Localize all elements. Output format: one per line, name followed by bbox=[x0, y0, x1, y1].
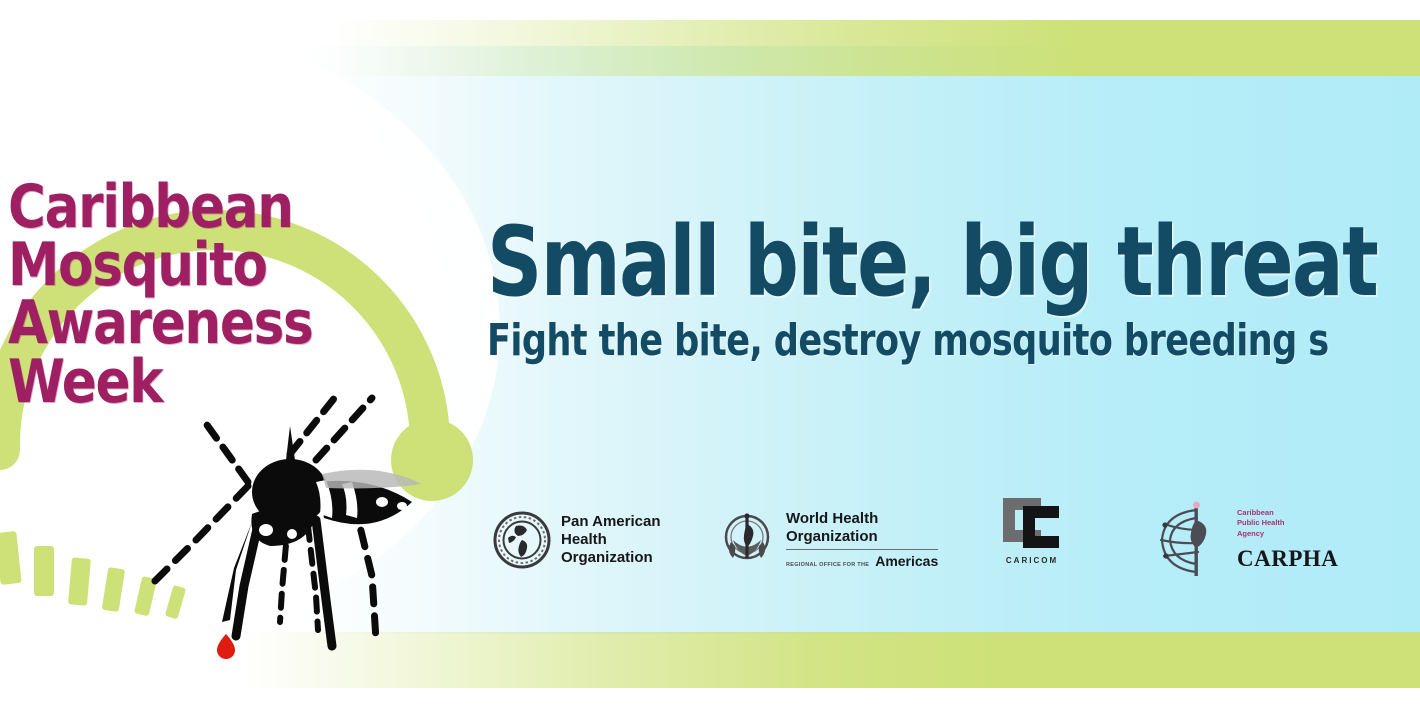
partner-logos: Pan American Health Organization World H… bbox=[492, 492, 1322, 588]
message-block: Small bite, big threat Fight the bite, d… bbox=[487, 214, 1420, 364]
who-region-line: REGIONAL OFFICE FOR THE Americas bbox=[786, 549, 938, 570]
who-line-1: World Health bbox=[786, 510, 938, 528]
carpha-tagline-line-2: Public Health bbox=[1237, 518, 1338, 528]
who-emblem-icon bbox=[717, 510, 777, 570]
carpha-wordmark: CARPHA bbox=[1237, 546, 1338, 572]
carpha-tagline-line-3: Agency bbox=[1237, 529, 1338, 539]
paho-wordmark: Pan American Health Organization bbox=[561, 513, 661, 566]
campaign-title-line-2: Mosquito bbox=[8, 236, 326, 294]
paho-globe-icon bbox=[492, 510, 552, 570]
partner-carpha: Caribbean Public Health Agency CARPHA bbox=[1152, 492, 1338, 588]
caricom-wordmark: CARICOM bbox=[1006, 556, 1058, 565]
who-wordmark: World Health Organization REGIONAL OFFIC… bbox=[786, 510, 938, 570]
carpha-wordmark-group: Caribbean Public Health Agency CARPHA bbox=[1237, 508, 1338, 571]
headline: Small bite, big threat bbox=[487, 214, 1239, 310]
partner-who: World Health Organization REGIONAL OFFIC… bbox=[717, 492, 938, 588]
subheadline: Fight the bite, destroy mosquito breedin… bbox=[487, 318, 1239, 364]
paho-line-3: Organization bbox=[561, 549, 661, 567]
carpha-globe-icon bbox=[1152, 500, 1228, 580]
caricom-logo-icon bbox=[997, 492, 1067, 554]
campaign-title-line-3: Awareness bbox=[8, 294, 326, 352]
who-region-prefix: REGIONAL OFFICE FOR THE bbox=[786, 562, 869, 568]
mosquito-icon bbox=[140, 390, 440, 670]
campaign-logo-lockup: Caribbean Mosquito Awareness Week bbox=[0, 20, 480, 640]
campaign-title: Caribbean Mosquito Awareness Week bbox=[8, 178, 326, 411]
carpha-tagline-line-1: Caribbean bbox=[1237, 508, 1338, 518]
who-line-2: Organization bbox=[786, 528, 938, 546]
campaign-title-line-1: Caribbean bbox=[8, 178, 326, 236]
carpha-tagline: Caribbean Public Health Agency bbox=[1237, 508, 1338, 538]
partner-caricom: CARICOM bbox=[997, 492, 1067, 588]
mosquito-awareness-banner: Caribbean Mosquito Awareness Week bbox=[0, 0, 1420, 710]
who-region: Americas bbox=[875, 553, 938, 570]
paho-line-1: Pan American bbox=[561, 513, 661, 531]
paho-line-2: Health bbox=[561, 531, 661, 549]
partner-paho: Pan American Health Organization bbox=[492, 492, 661, 588]
